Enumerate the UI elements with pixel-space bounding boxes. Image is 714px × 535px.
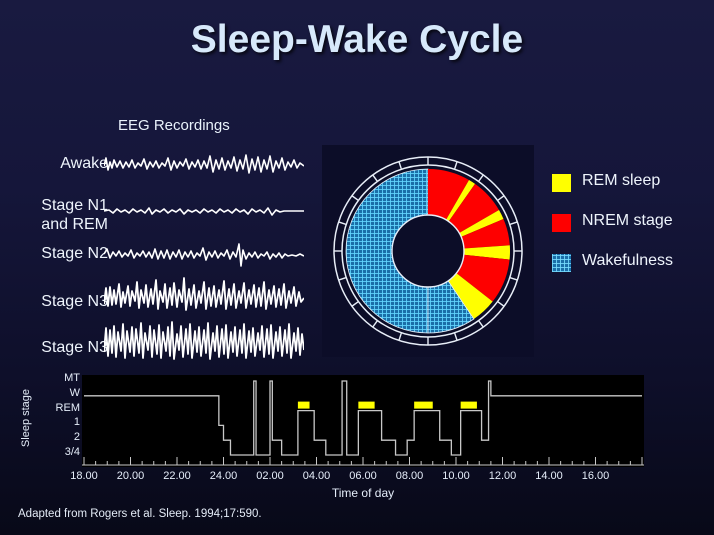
donut-ring-tick-16: [339, 222, 347, 224]
eeg-wave-n3-b: [104, 320, 304, 366]
hypnogram-x-axis-label: Time of day: [82, 486, 644, 500]
hypnogram-y-tick-REM: REM: [28, 402, 80, 414]
sleep-wake-donut-chart: [322, 145, 534, 357]
hypnogram-y-tick-2: 2: [28, 431, 80, 443]
hypnogram-y-ticks: MTWREM123/4: [24, 372, 80, 470]
eeg-row-n1-rem: Stage N1 and REM: [0, 188, 318, 234]
hypnogram-x-tick-2000: 20.00: [117, 470, 145, 482]
hypnogram-x-tick-0400: 04.00: [303, 470, 331, 482]
hypnogram-x-tick-0800: 08.00: [396, 470, 424, 482]
eeg-wave-awake: [104, 142, 304, 188]
hypnogram-y-tick-3-4: 3/4: [28, 446, 80, 458]
slide-canvas: Sleep-Wake Cycle EEG Recordings Awake St…: [0, 0, 714, 535]
donut-ring-tick-3: [498, 196, 504, 201]
eeg-row-n3-a: Stage N3: [0, 274, 318, 320]
donut-ring-tick-8: [479, 321, 484, 327]
chart-legend: REM sleep NREM stage Wakefulness: [552, 172, 712, 292]
eeg-label-awake: Awake: [0, 154, 108, 173]
donut-ring-tick-2: [479, 175, 484, 181]
hypnogram-y-tick-W: W: [28, 387, 80, 399]
legend-item-rem: REM sleep: [552, 172, 712, 212]
donut-ring-tick-1: [455, 162, 457, 170]
hypnogram-x-tick-2400: 24.00: [210, 470, 238, 482]
donut-ring-tick-11: [399, 333, 401, 341]
hypnogram-y-tick-1: 1: [28, 416, 80, 428]
hypnogram-rem-bar-2: [414, 402, 433, 409]
donut-ring-tick-4: [510, 222, 518, 224]
legend-swatch-nrem-icon: [552, 214, 571, 232]
eeg-row-n3-b: Stage N3: [0, 320, 318, 366]
hypnogram-x-tick-1600: 16.00: [582, 470, 610, 482]
legend-item-wakefulness: Wakefulness: [552, 252, 712, 292]
eeg-row-awake: Awake: [0, 142, 318, 188]
eeg-wave-n1-rem: [104, 188, 304, 234]
donut-ring-tick-17: [352, 196, 358, 201]
hypnogram-rem-bars: [298, 402, 477, 409]
donut-ring-tick-12: [373, 321, 378, 327]
hypnogram-rem-bar-3: [461, 402, 477, 409]
hypnogram-x-tick-0600: 06.00: [349, 470, 377, 482]
eeg-recordings-panel: EEG Recordings Awake Stage N1 and REM St…: [0, 112, 318, 374]
eeg-heading: EEG Recordings: [118, 117, 230, 134]
hypnogram-y-tick-MT: MT: [28, 372, 80, 384]
hypnogram-panel: Sleep stage MTWREM123/4 18.0020.0022.002…: [0, 372, 714, 502]
donut-ring-tick-18: [373, 175, 378, 181]
hypnogram-axis-ticks: [82, 457, 644, 465]
donut-ring-tick-19: [399, 162, 401, 170]
hypnogram-rem-bar-0: [298, 402, 310, 409]
donut-center-hole: [392, 215, 464, 287]
eeg-label-n3-b: Stage N3: [0, 338, 108, 357]
donut-ring-tick-9: [455, 333, 457, 341]
hypnogram-x-tick-2200: 22.00: [163, 470, 191, 482]
hypnogram-x-tick-0200: 02.00: [256, 470, 284, 482]
donut-ring-tick-6: [510, 278, 518, 280]
hypnogram-x-tick-1800: 18.00: [70, 470, 98, 482]
page-title: Sleep-Wake Cycle: [0, 18, 714, 62]
donut-ring-tick-7: [498, 302, 504, 307]
legend-label-wakefulness: Wakefulness: [582, 252, 673, 270]
eeg-row-n2: Stage N2: [0, 232, 318, 278]
hypnogram-x-tick-1400: 14.00: [535, 470, 563, 482]
eeg-label-n1-line1: Stage N1: [0, 196, 108, 215]
eeg-label-n3-a: Stage N3: [0, 292, 108, 311]
hypnogram-x-tick-1000: 10.00: [442, 470, 470, 482]
hypnogram-rem-bar-1: [358, 402, 374, 409]
donut-ring-tick-14: [339, 278, 347, 280]
eeg-wave-n2: [104, 232, 304, 278]
legend-swatch-rem-icon: [552, 174, 571, 192]
eeg-label-n1: Stage N1 and REM: [0, 196, 108, 234]
source-citation: Adapted from Rogers et al. Sleep. 1994;1…: [18, 508, 262, 520]
legend-label-rem: REM sleep: [582, 172, 660, 190]
legend-label-nrem: NREM stage: [582, 212, 673, 230]
hypnogram-plot-area: [82, 375, 644, 467]
hypnogram-x-tick-1200: 12.00: [489, 470, 517, 482]
hypnogram-x-ticks: 18.0020.0022.0024.0002.0004.0006.0008.00…: [82, 470, 644, 486]
eeg-wave-n3-a: [104, 274, 304, 320]
donut-ring-tick-13: [352, 302, 358, 307]
legend-item-nrem: NREM stage: [552, 212, 712, 252]
eeg-label-n2: Stage N2: [0, 244, 108, 263]
hypnogram-trace: [84, 381, 642, 455]
legend-swatch-wakefulness-icon: [552, 254, 571, 272]
